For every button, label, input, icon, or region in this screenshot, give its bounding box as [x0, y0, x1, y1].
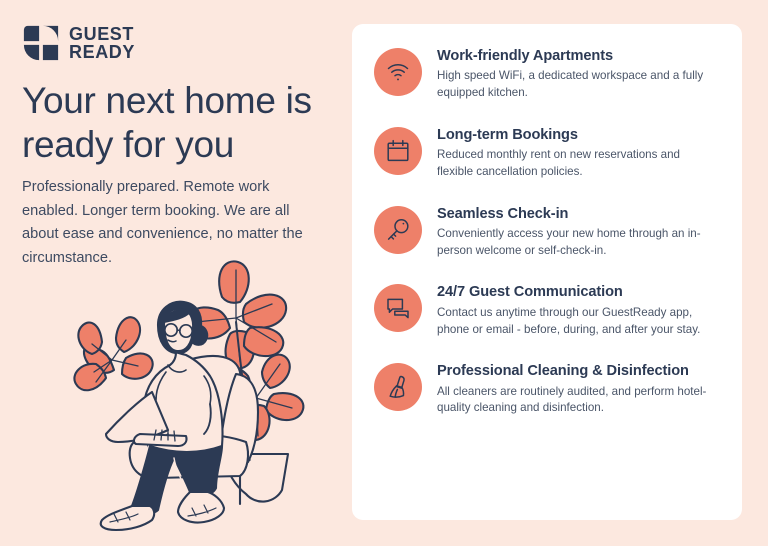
brand-word-line2: READY [69, 43, 135, 61]
hero-column: GUEST READY Your next home is ready for … [0, 0, 352, 546]
chat-bubbles-icon [374, 284, 422, 332]
feature-title: Seamless Check-in [437, 205, 712, 223]
feature-title: Long-term Bookings [437, 126, 712, 144]
feature-title: Work-friendly Apartments [437, 47, 712, 65]
wifi-icon [374, 48, 422, 96]
feature-description: High speed WiFi, a dedicated workspace a… [437, 68, 712, 102]
promo-page: GUEST READY Your next home is ready for … [0, 0, 768, 546]
feature-list: Work-friendly Apartments High speed WiFi… [374, 46, 720, 417]
brand-word-line1: GUEST [69, 25, 135, 43]
brand-wordmark: GUEST READY [69, 25, 135, 61]
feature-text: Seamless Check-in Conveniently access yo… [437, 204, 712, 260]
feature-description: Reduced monthly rent on new reservations… [437, 147, 712, 181]
key-icon [374, 206, 422, 254]
feature-description: All cleaners are routinely audited, and … [437, 384, 712, 418]
brand-logo[interactable]: GUEST READY [22, 24, 135, 62]
feature-item-seamless-check-in[interactable]: Seamless Check-in Conveniently access yo… [374, 204, 720, 260]
feature-item-professional-cleaning[interactable]: Professional Cleaning & Disinfection All… [374, 361, 720, 417]
feature-description: Contact us anytime through our GuestRead… [437, 305, 712, 339]
feature-item-long-term-bookings[interactable]: Long-term Bookings Reduced monthly rent … [374, 125, 720, 181]
guestready-quadrant-logo-icon [22, 24, 60, 62]
feature-text: Professional Cleaning & Disinfection All… [437, 361, 712, 417]
broom-icon [374, 363, 422, 411]
feature-text: 24/7 Guest Communication Contact us anyt… [437, 282, 712, 338]
feature-item-guest-communication[interactable]: 24/7 Guest Communication Contact us anyt… [374, 282, 720, 338]
feature-title: 24/7 Guest Communication [437, 283, 712, 301]
feature-text: Long-term Bookings Reduced monthly rent … [437, 125, 712, 181]
feature-item-work-friendly-apartments[interactable]: Work-friendly Apartments High speed WiFi… [374, 46, 720, 102]
features-card: Work-friendly Apartments High speed WiFi… [352, 24, 742, 520]
calendar-icon [374, 127, 422, 175]
page-title: Your next home is ready for you [22, 79, 342, 166]
plant-left-illustration [74, 317, 152, 390]
feature-text: Work-friendly Apartments High speed WiFi… [437, 46, 712, 102]
woman-reading-laptop-in-armchair-with-plants-illustration [40, 252, 340, 537]
feature-title: Professional Cleaning & Disinfection [437, 362, 712, 380]
feature-description: Conveniently access your new home throug… [437, 226, 712, 260]
